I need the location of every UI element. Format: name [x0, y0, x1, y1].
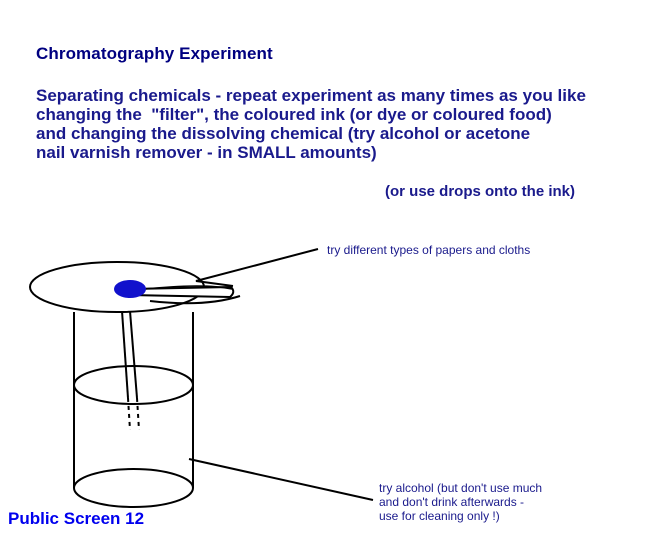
- annotation-papers-and-cloths: try different types of papers and cloths: [327, 243, 530, 257]
- annotation-alcohol-warning: try alcohol (but don't use much and don'…: [379, 481, 542, 523]
- coloured-ink-spot: [114, 280, 146, 298]
- beaker-cylinder: [74, 312, 193, 507]
- slide-canvas: Chromatography Experiment Separating che…: [0, 0, 651, 551]
- chromatography-diagram: [0, 0, 651, 551]
- wick-strand-right-submerged: [137, 398, 139, 430]
- leader-line-to-alcohol-note: [189, 459, 373, 500]
- leader-line-to-paper-note: [196, 249, 318, 286]
- page-title: Chromatography Experiment: [36, 44, 273, 64]
- wick-strand-right: [130, 311, 137, 398]
- wick-strand-left-submerged: [128, 398, 130, 430]
- wick-strand-left: [122, 311, 128, 398]
- footer-label: Public Screen 12: [8, 509, 144, 529]
- hanging-paper-wick: [122, 311, 139, 430]
- drops-note: (or use drops onto the ink): [385, 183, 575, 200]
- solvent-level-ellipse: [74, 366, 193, 404]
- instructions-text: Separating chemicals - repeat experiment…: [36, 86, 586, 162]
- beaker-base-ellipse: [74, 469, 193, 507]
